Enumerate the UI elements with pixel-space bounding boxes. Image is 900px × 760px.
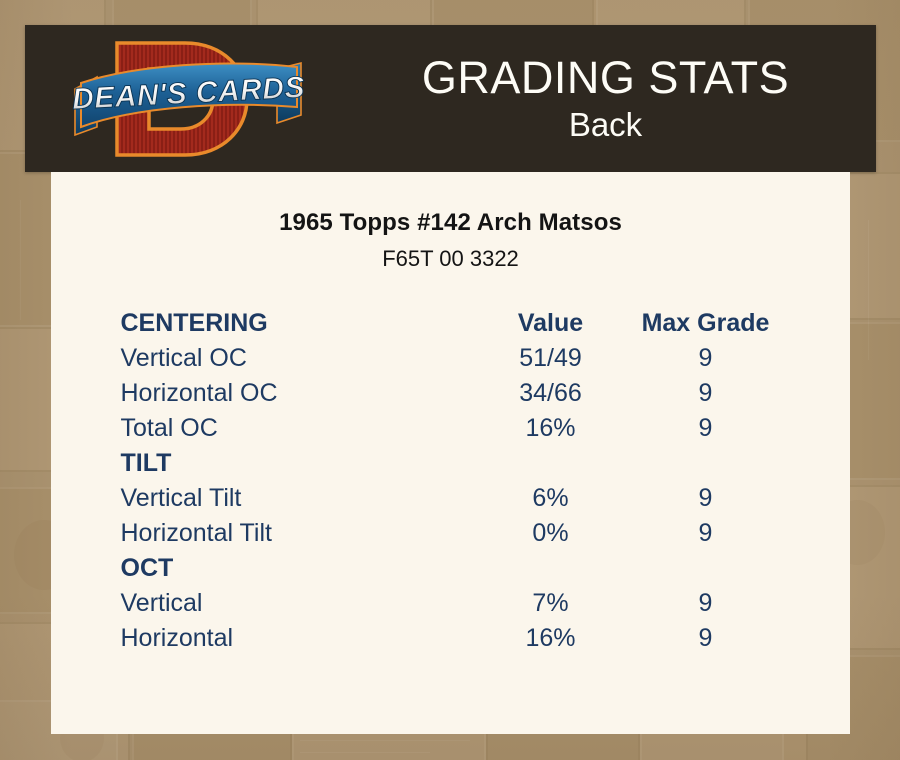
stat-value: 16% [471,411,631,446]
stat-max-grade: 9 [631,621,781,656]
background-detail [300,752,430,753]
stat-value: 6% [471,481,631,516]
stat-group-name: TILT [121,446,781,481]
stat-label: Vertical Tilt [121,481,471,516]
stat-max-grade: 9 [631,411,781,446]
stat-max-grade: 9 [631,586,781,621]
header-titles: GRADING STATS Back [325,25,876,172]
table-row: Horizontal Tilt 0% 9 [121,516,781,551]
content-panel: 1965 Topps #142 Arch Matsos F65T 00 3322… [51,172,850,734]
table-row: Total OC 16% 9 [121,411,781,446]
table-row: Horizontal OC 34/66 9 [121,376,781,411]
background-detail [300,740,470,741]
stat-value: 16% [471,621,631,656]
page-subtitle: Back [569,105,642,145]
column-header-max-grade: Max Grade [631,306,781,341]
table-header-row: CENTERING Value Max Grade [121,306,781,341]
table-row: Vertical 7% 9 [121,586,781,621]
column-header-value: Value [471,306,631,341]
stat-value: 7% [471,586,631,621]
stat-group-header: TILT [121,446,781,481]
stat-max-grade: 9 [631,516,781,551]
background-detail [868,220,869,360]
stat-value: 51/49 [471,341,631,376]
column-header-centering: CENTERING [121,306,471,341]
deans-cards-logo[interactable]: DEAN'S CARDS [65,31,315,167]
stat-label: Total OC [121,411,471,446]
table-header: CENTERING Value Max Grade [121,306,781,341]
stat-max-grade: 9 [631,376,781,411]
table-row: Vertical OC 51/49 9 [121,341,781,376]
stat-label: Vertical OC [121,341,471,376]
stat-label: Horizontal [121,621,471,656]
background-detail [20,200,21,320]
table-body: Vertical OC 51/49 9 Horizontal OC 34/66 … [121,341,781,656]
card-serial-number: F65T 00 3322 [51,246,850,272]
card-title: 1965 Topps #142 Arch Matsos [51,209,850,237]
stat-label: Horizontal OC [121,376,471,411]
stat-group-name: OCT [121,551,781,586]
stat-value: 34/66 [471,376,631,411]
stat-max-grade: 9 [631,341,781,376]
stat-max-grade: 9 [631,481,781,516]
header-bar: DEAN'S CARDS GRADING STATS Back [25,25,876,172]
stat-label: Horizontal Tilt [121,516,471,551]
stat-group-header: OCT [121,551,781,586]
table-row: Vertical Tilt 6% 9 [121,481,781,516]
grading-stats-table: CENTERING Value Max Grade Vertical OC 51… [121,306,781,656]
page-title: GRADING STATS [422,53,789,103]
table-row: Horizontal 16% 9 [121,621,781,656]
stat-value: 0% [471,516,631,551]
stat-label: Vertical [121,586,471,621]
